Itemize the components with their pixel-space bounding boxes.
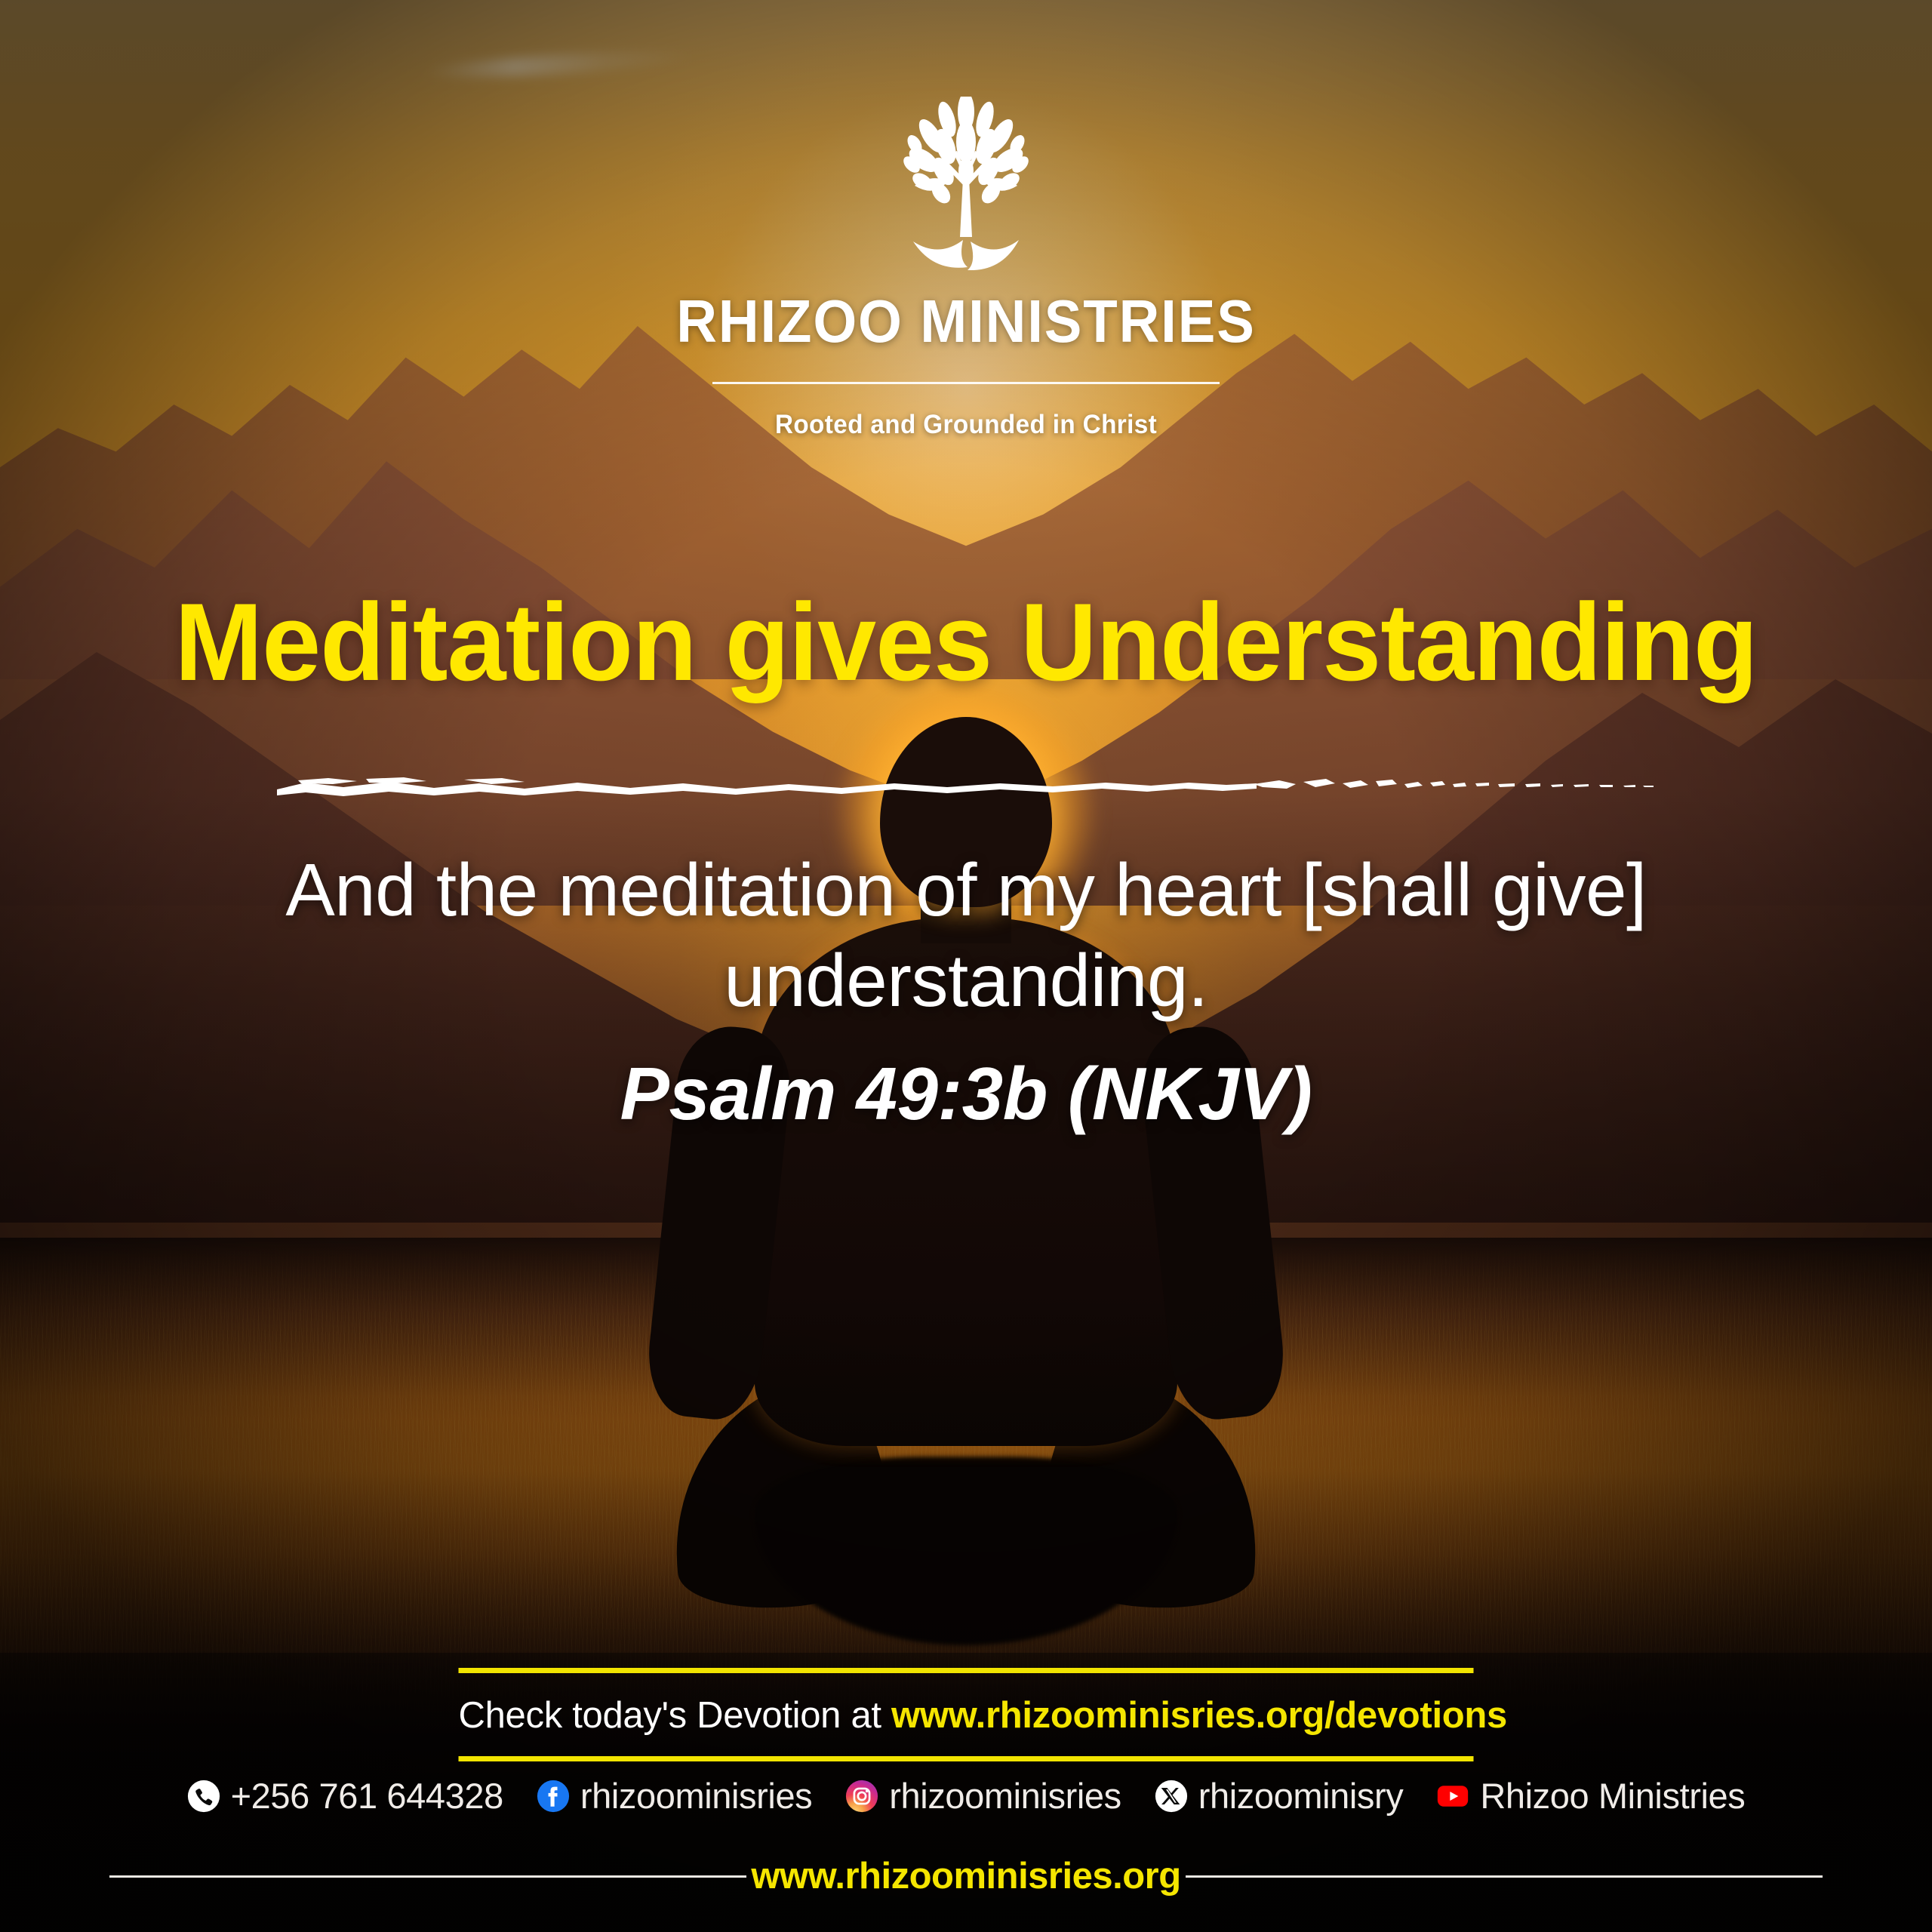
contact-facebook[interactable]: rhizoominisries (537, 1775, 812, 1817)
facebook-icon (537, 1780, 570, 1813)
youtube-icon (1436, 1780, 1469, 1813)
contact-x-twitter[interactable]: rhizoominisry (1155, 1775, 1404, 1817)
devotion-banner: Check today's Devotion at www.rhizoomini… (459, 1668, 1474, 1761)
x-twitter-icon (1155, 1780, 1188, 1813)
brand-name: RHIZOO MINISTRIES (68, 287, 1865, 356)
page-title: Meditation gives Understanding (38, 587, 1894, 697)
contact-youtube[interactable]: Rhizoo Ministries (1436, 1775, 1745, 1817)
phone-number: +256 761 644328 (231, 1775, 503, 1817)
footer-rule-left (109, 1875, 746, 1878)
footer-url[interactable]: www.rhizoominisries.org (746, 1855, 1185, 1897)
brand-tagline: Rooted and Grounded in Christ (48, 410, 1884, 440)
instagram-handle: rhizoominisries (889, 1775, 1121, 1817)
scripture-block: And the meditation of my heart [shall gi… (279, 845, 1653, 1137)
youtube-handle: Rhizoo Ministries (1480, 1775, 1745, 1817)
contact-phone[interactable]: +256 761 644328 (187, 1775, 503, 1817)
footer-rule-right (1186, 1875, 1823, 1878)
phone-icon (187, 1780, 220, 1813)
devotion-rule-bottom (459, 1756, 1474, 1761)
brand-divider-rule (712, 382, 1220, 384)
scripture-verse: And the meditation of my heart [shall gi… (279, 845, 1653, 1026)
tree-logo-icon (868, 97, 1064, 270)
footer-url-bar: www.rhizoominisries.org (109, 1855, 1823, 1897)
instagram-icon (845, 1780, 878, 1813)
devotion-cta: Check today's Devotion at www.rhizoomini… (459, 1673, 1474, 1756)
devotional-poster: RHIZOO MINISTRIES Rooted and Grounded in… (0, 0, 1932, 1932)
devotion-rule-top (459, 1668, 1474, 1673)
devotion-url-link[interactable]: www.rhizoominisries.org/devotions (891, 1695, 1507, 1736)
facebook-handle: rhizoominisries (580, 1775, 812, 1817)
brand-header: RHIZOO MINISTRIES Rooted and Grounded in… (0, 0, 1932, 440)
scripture-reference: Psalm 49:3b (NKJV) (279, 1051, 1653, 1137)
contact-instagram[interactable]: rhizoominisries (845, 1775, 1121, 1817)
x-handle: rhizoominisry (1198, 1775, 1404, 1817)
social-contact-row: +256 761 644328 rhizoominisries (0, 1775, 1932, 1817)
brush-stroke-divider (275, 764, 1657, 809)
devotion-prefix: Check today's Devotion at (459, 1695, 892, 1736)
